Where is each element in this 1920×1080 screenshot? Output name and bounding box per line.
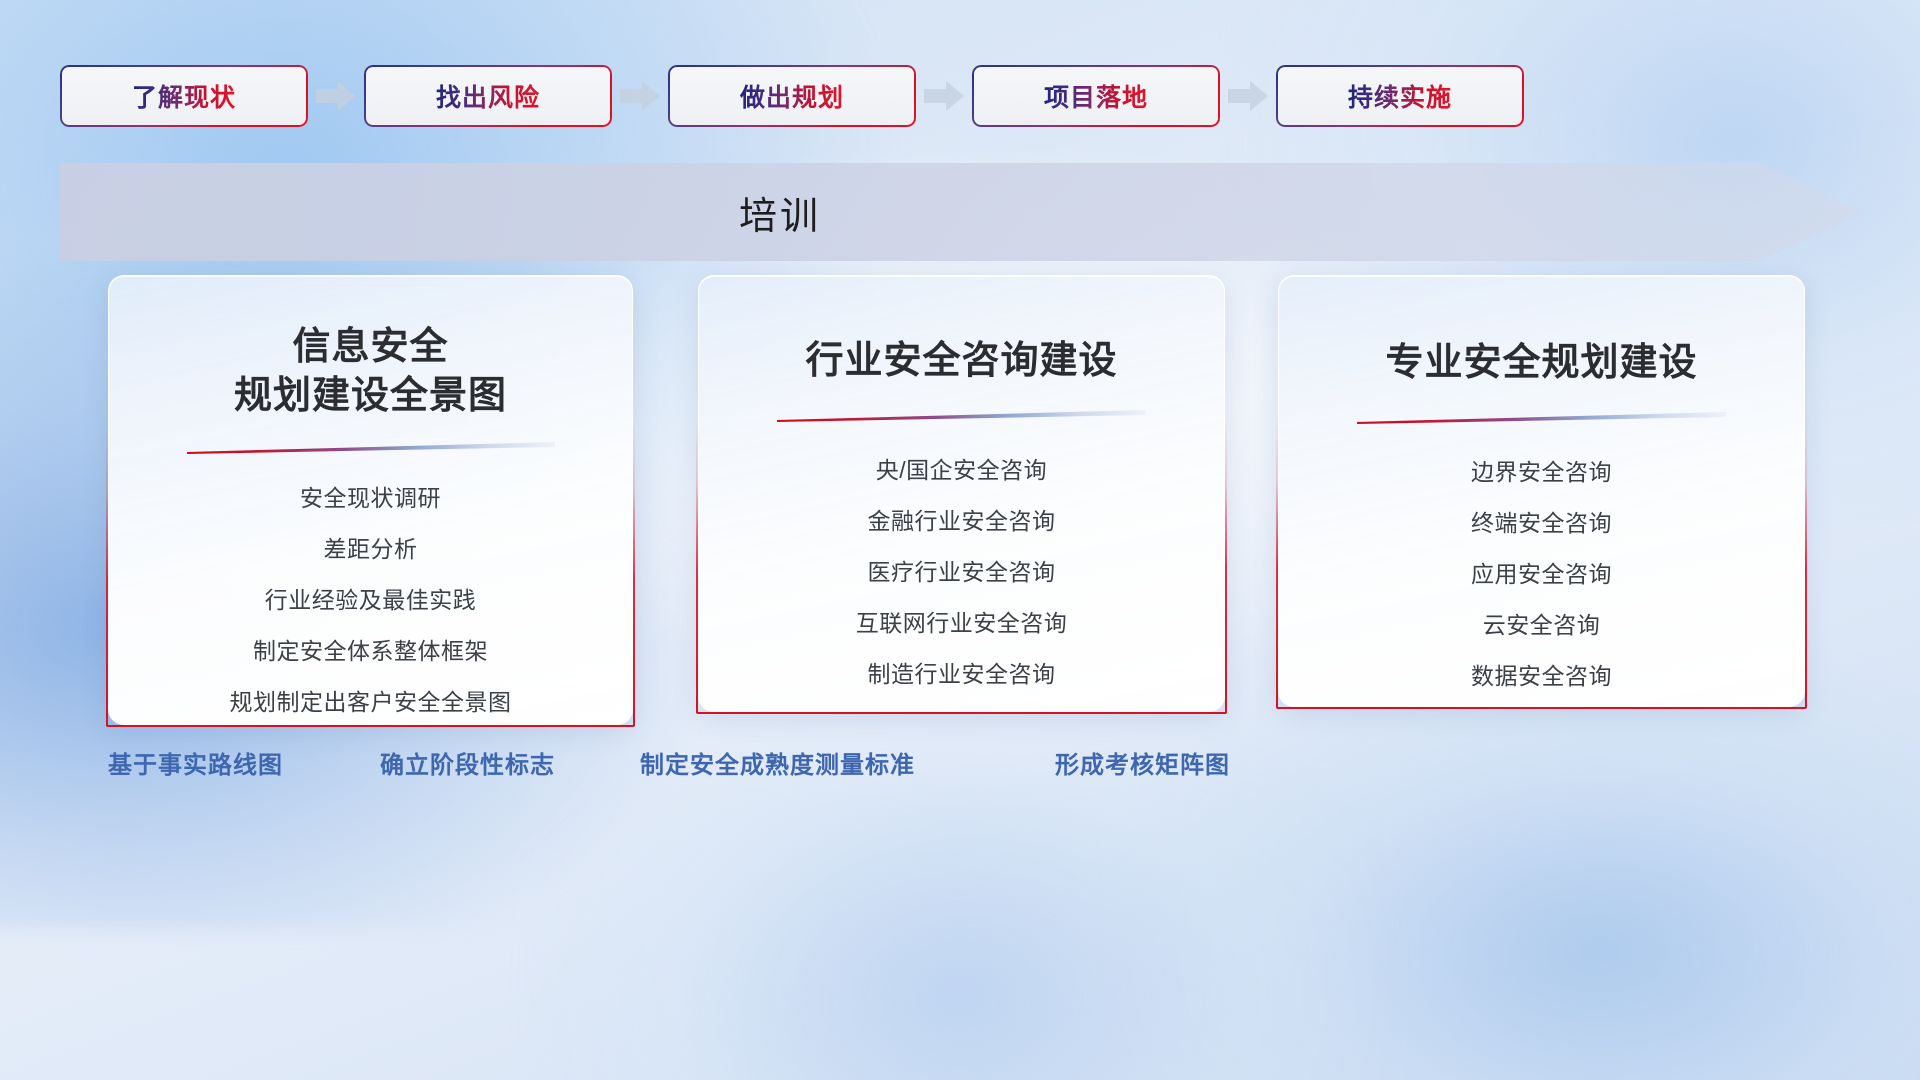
- step-arrow-icon-3: [916, 65, 972, 127]
- card-item: 医疗行业安全咨询: [856, 558, 1068, 586]
- card-bottom-accent: [696, 712, 1227, 714]
- footnote-label-4: 形成考核矩阵图: [1055, 745, 1230, 780]
- card-item: 终端安全咨询: [1471, 509, 1612, 537]
- step-label: 持续实施: [1348, 78, 1452, 114]
- step-box-4[interactable]: 项目落地: [972, 65, 1220, 127]
- card-item-list: 边界安全咨询终端安全咨询应用安全咨询云安全咨询数据安全咨询: [1471, 458, 1612, 690]
- card-divider: [187, 442, 555, 454]
- step-box-2[interactable]: 找出风险: [364, 65, 612, 127]
- card-content: 专业安全规划建设 边界安全咨询终端安全咨询应用安全咨询云安全咨询数据安全咨询: [1278, 275, 1805, 707]
- process-step-flow: 了解现状 找出风险 做出规划 项目落地 持续实施: [60, 64, 1860, 128]
- service-card-2[interactable]: 行业安全咨询建设 央/国企安全咨询金融行业安全咨询医疗行业安全咨询互联网行业安全…: [698, 275, 1225, 712]
- card-divider: [777, 410, 1146, 422]
- step-box-5[interactable]: 持续实施: [1276, 65, 1524, 127]
- card-content: 行业安全咨询建设 央/国企安全咨询金融行业安全咨询医疗行业安全咨询互联网行业安全…: [698, 275, 1225, 712]
- card-title-line: 规划建设全景图: [234, 372, 507, 421]
- card-title: 行业安全咨询建设: [805, 337, 1117, 386]
- step-arrow-icon-4: [1220, 65, 1276, 127]
- card-item: 央/国企安全咨询: [856, 456, 1068, 484]
- chevron-right-icon: [618, 79, 662, 113]
- step-label: 找出风险: [436, 78, 540, 114]
- chevron-right-icon: [314, 79, 358, 113]
- card-item: 制造行业安全咨询: [856, 660, 1068, 688]
- card-item: 规划制定出客户安全全景图: [230, 688, 512, 716]
- card-right-accent: [1225, 419, 1227, 712]
- step-box-3[interactable]: 做出规划: [668, 65, 916, 127]
- card-item: 互联网行业安全咨询: [856, 609, 1068, 637]
- card-title-line: 信息安全: [234, 323, 507, 372]
- card-item: 行业经验及最佳实践: [230, 586, 512, 614]
- card-item: 差距分析: [230, 535, 512, 563]
- card-title: 信息安全规划建设全景图: [234, 323, 507, 420]
- cards-row: 信息安全规划建设全景图 安全现状调研差距分析行业经验及最佳实践制定安全体系整体框…: [0, 275, 1920, 725]
- footnote-label-3: 制定安全成熟度测量标准: [640, 745, 915, 780]
- card-divider: [1357, 412, 1726, 424]
- chevron-right-icon: [922, 79, 966, 113]
- card-item: 安全现状调研: [230, 484, 512, 512]
- step-label: 项目落地: [1044, 78, 1148, 114]
- step-label: 了解现状: [132, 78, 236, 114]
- card-title-line: 专业安全规划建设: [1385, 339, 1697, 388]
- card-bottom-accent: [106, 725, 635, 727]
- card-item-list: 安全现状调研差距分析行业经验及最佳实践制定安全体系整体框架规划制定出客户安全全景…: [230, 484, 512, 716]
- card-item-list: 央/国企安全咨询金融行业安全咨询医疗行业安全咨询互联网行业安全咨询制造行业安全咨…: [856, 456, 1068, 688]
- card-title-line: 行业安全咨询建设: [805, 337, 1117, 386]
- card-item: 云安全咨询: [1471, 611, 1612, 639]
- footnote-row: 基于事实路线图确立阶段性标志制定安全成熟度测量标准形成考核矩阵图: [0, 745, 1920, 795]
- card-title: 专业安全规划建设: [1385, 339, 1697, 388]
- card-item: 金融行业安全咨询: [856, 507, 1068, 535]
- card-bottom-accent: [1276, 707, 1807, 709]
- step-arrow-icon-2: [612, 65, 668, 127]
- chevron-right-icon: [1226, 79, 1270, 113]
- card-item: 边界安全咨询: [1471, 458, 1612, 486]
- footnote-label-1: 基于事实路线图: [108, 745, 283, 780]
- card-right-accent: [1805, 418, 1807, 707]
- training-banner: 培训: [60, 163, 1865, 261]
- card-item: 制定安全体系整体框架: [230, 637, 512, 665]
- step-arrow-icon-1: [308, 65, 364, 127]
- service-card-1[interactable]: 信息安全规划建设全景图 安全现状调研差距分析行业经验及最佳实践制定安全体系整体框…: [108, 275, 633, 725]
- banner-title: 培训: [60, 163, 1500, 261]
- card-content: 信息安全规划建设全景图 安全现状调研差距分析行业经验及最佳实践制定安全体系整体框…: [108, 275, 633, 725]
- footnote-label-2: 确立阶段性标志: [380, 745, 555, 780]
- step-box-1[interactable]: 了解现状: [60, 65, 308, 127]
- card-right-accent: [633, 424, 635, 726]
- card-item: 应用安全咨询: [1471, 560, 1612, 588]
- card-item: 数据安全咨询: [1471, 662, 1612, 690]
- service-card-3[interactable]: 专业安全规划建设 边界安全咨询终端安全咨询应用安全咨询云安全咨询数据安全咨询: [1278, 275, 1805, 707]
- step-label: 做出规划: [740, 78, 844, 114]
